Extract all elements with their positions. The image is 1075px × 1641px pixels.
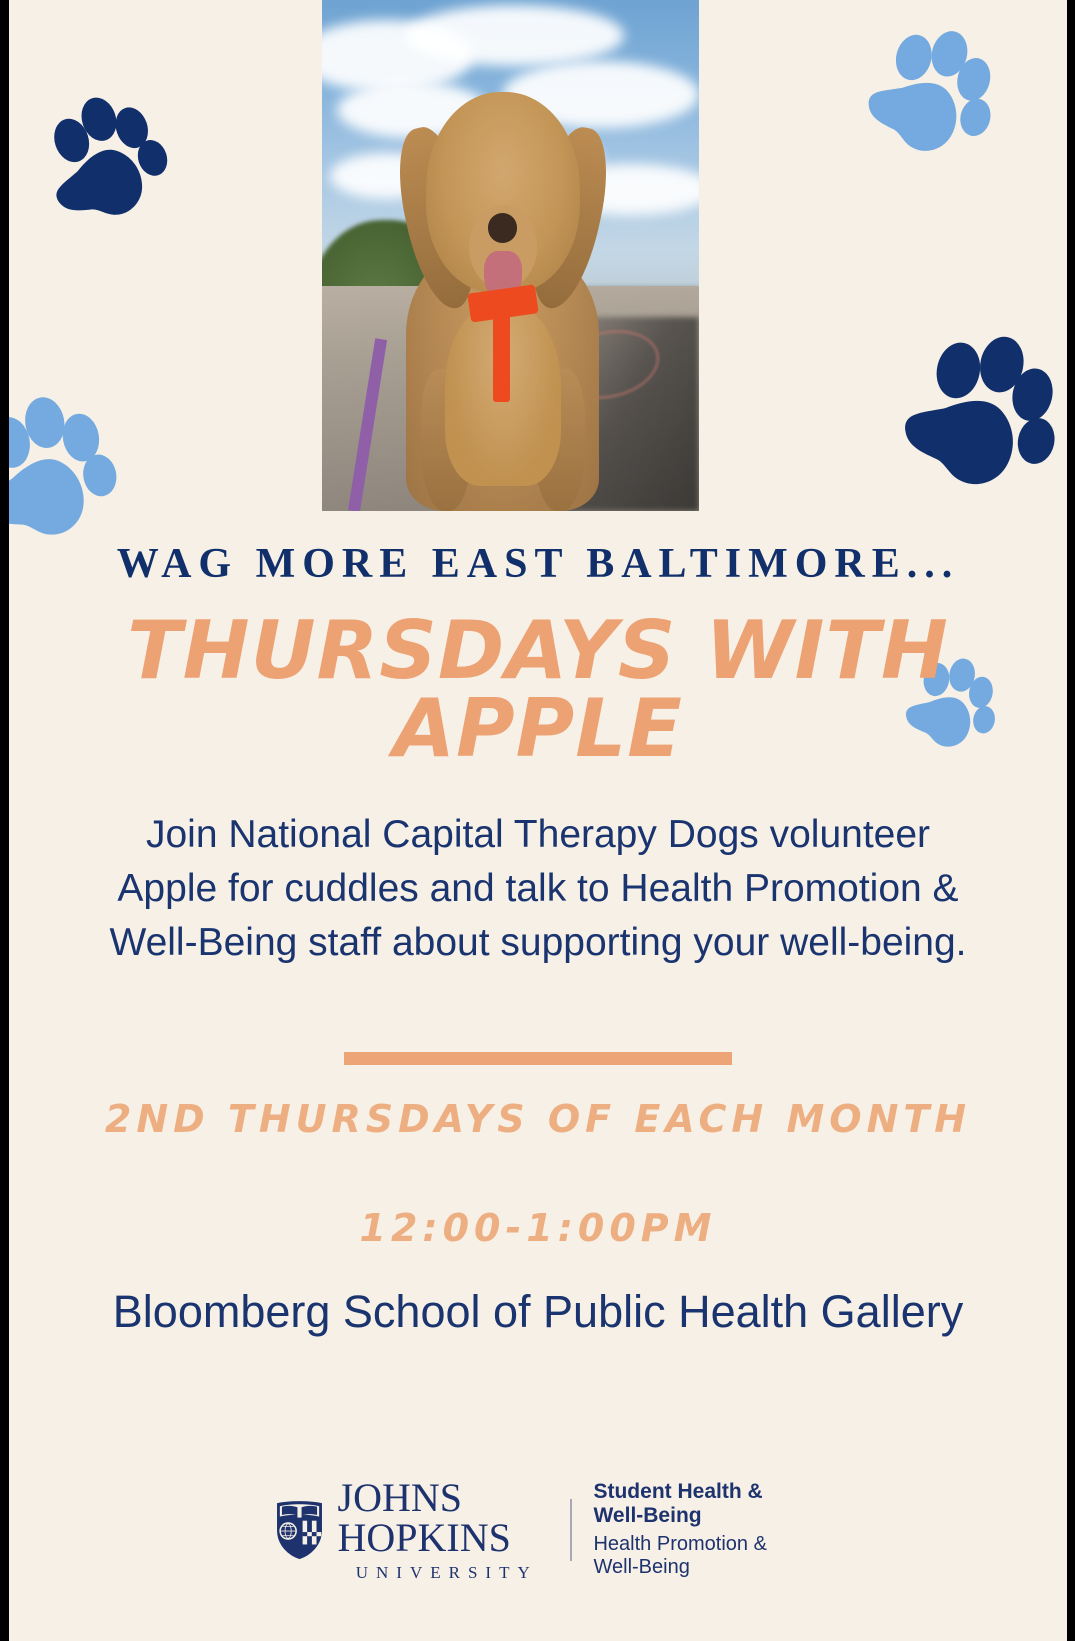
section-divider <box>344 1052 732 1065</box>
paw-print-icon-top-left <box>22 78 186 242</box>
time-text: 12:00-1:00PM <box>9 1206 1067 1250</box>
venue-text: Bloomberg School of Public Health Galler… <box>9 1282 1067 1343</box>
poster-canvas: WAG MORE EAST BALTIMORE... THURSDAYS WIT… <box>9 0 1067 1641</box>
apple-therapy-dog-photo <box>322 0 699 511</box>
poster-frame: WAG MORE EAST BALTIMORE... THURSDAYS WIT… <box>0 0 1075 1641</box>
logo-lockup: JOHNS HOPKINS UNIVERSITY Student Health … <box>274 1478 803 1581</box>
photo-dog <box>382 92 623 511</box>
department-name: Student Health & Well-Being <box>593 1480 802 1528</box>
department-lockup: Student Health & Well-Being Health Promo… <box>593 1480 802 1579</box>
body-description: Join National Capital Therapy Dogs volun… <box>9 808 1067 969</box>
page-title: THURSDAYS WITH APPLE <box>9 612 1067 769</box>
paw-print-icon-top-right <box>850 11 1014 175</box>
photo-cloud <box>405 5 624 66</box>
university-name: JOHNS HOPKINS <box>338 1478 549 1558</box>
johns-hopkins-logo: JOHNS HOPKINS UNIVERSITY <box>274 1478 549 1581</box>
logo-divider <box>570 1499 571 1561</box>
schedule-text: 2ND THURSDAYS OF EACH MONTH <box>9 1092 1067 1147</box>
paw-print-icon-mid-right <box>884 315 1067 511</box>
university-subtitle: UNIVERSITY <box>348 1564 538 1581</box>
shield-crest-icon <box>274 1499 326 1561</box>
johns-hopkins-wordmark: JOHNS HOPKINS UNIVERSITY <box>338 1478 549 1581</box>
paw-print-icon-mid-left <box>9 383 131 557</box>
page-headline: WAG MORE EAST BALTIMORE... <box>9 540 1067 588</box>
dog-harness <box>493 293 510 402</box>
department-subname: Health Promotion & Well-Being <box>593 1533 802 1579</box>
